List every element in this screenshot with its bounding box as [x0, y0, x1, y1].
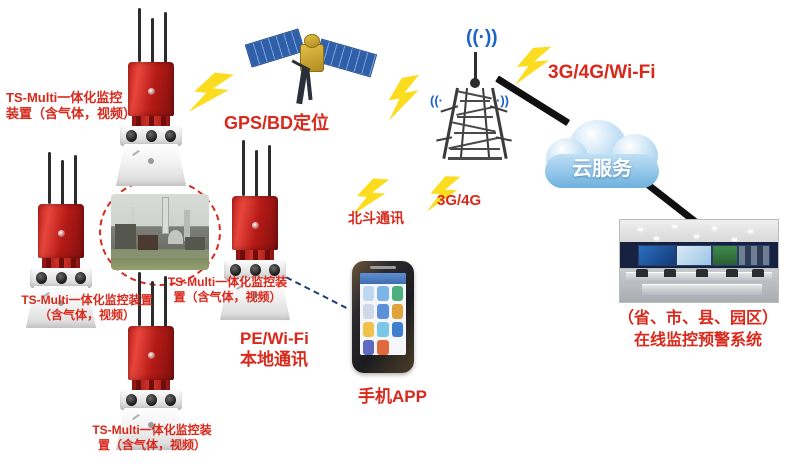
- label-device-top-left: TS-Multi一体化监控 装置（含气体，视频）: [6, 90, 136, 123]
- label-device-mid-left: TS-Multi一体化监控装置 （含气体，视频）: [2, 293, 172, 323]
- app-icon[interactable]: [377, 286, 388, 301]
- app-icon[interactable]: [392, 322, 403, 337]
- control-room-photo: [619, 219, 779, 303]
- diagram-canvas: ((·)) ((· ·)) 云服务: [0, 0, 797, 464]
- video-wall-screen: [738, 245, 770, 267]
- phone-status-bar: [360, 273, 406, 284]
- cloud-service-label: 云服务: [542, 152, 662, 181]
- label-device-bottom: TS-Multi一体化监控装 置（含气体，视频）: [78, 423, 226, 453]
- phone-app-grid[interactable]: [363, 286, 403, 352]
- petrochemical-plant-photo: [99, 178, 221, 286]
- communication-tower-icon: ((·)) ((· ·)): [432, 24, 518, 160]
- label-gps-bd: GPS/BD定位: [224, 112, 329, 135]
- wifi-signal-left-icon: ((·: [430, 94, 443, 107]
- app-icon[interactable]: [363, 286, 374, 301]
- wifi-signal-right-icon: ·)): [496, 94, 509, 107]
- app-icon[interactable]: [363, 322, 374, 337]
- label-beidou-comm: 北斗通讯: [348, 210, 404, 228]
- app-icon[interactable]: [377, 340, 388, 355]
- app-icon[interactable]: [377, 304, 388, 319]
- app-icon[interactable]: [392, 286, 403, 301]
- speaker-grille: [370, 266, 396, 269]
- label-device-mid-right: TS-Multi一体化监控装 置（含气体，视频）: [160, 275, 295, 305]
- video-wall-screen: [712, 245, 738, 267]
- label-control-center: （省、市、县、园区） 在线监控预警系统: [600, 308, 796, 351]
- label-phone-app: 手机APP: [358, 386, 427, 407]
- satellite-icon: [245, 12, 375, 108]
- ts-multi-monitoring-device: [108, 8, 194, 158]
- video-wall-screen: [676, 245, 712, 267]
- app-icon[interactable]: [363, 304, 374, 319]
- app-icon[interactable]: [363, 340, 374, 355]
- rugged-handheld-terminal[interactable]: [352, 261, 414, 373]
- phone-screen[interactable]: [360, 273, 406, 355]
- wifi-signal-top-icon: ((·)): [466, 28, 498, 47]
- ts-multi-monitoring-device: [18, 152, 104, 302]
- label-3g4g: 3G/4G: [437, 192, 481, 211]
- video-wall-screen: [638, 245, 676, 267]
- app-icon[interactable]: [392, 304, 403, 319]
- lightning-bolt-satellite-to-tower: [378, 75, 426, 122]
- label-local-comm: PE/Wi-Fi 本地通讯: [240, 328, 309, 371]
- ts-multi-monitoring-device: [212, 140, 298, 290]
- app-icon: [392, 340, 403, 355]
- app-icon[interactable]: [377, 322, 388, 337]
- label-3g4g-wifi: 3G/4G/Wi-Fi: [548, 61, 656, 85]
- cloud-service-icon: 云服务: [542, 118, 662, 194]
